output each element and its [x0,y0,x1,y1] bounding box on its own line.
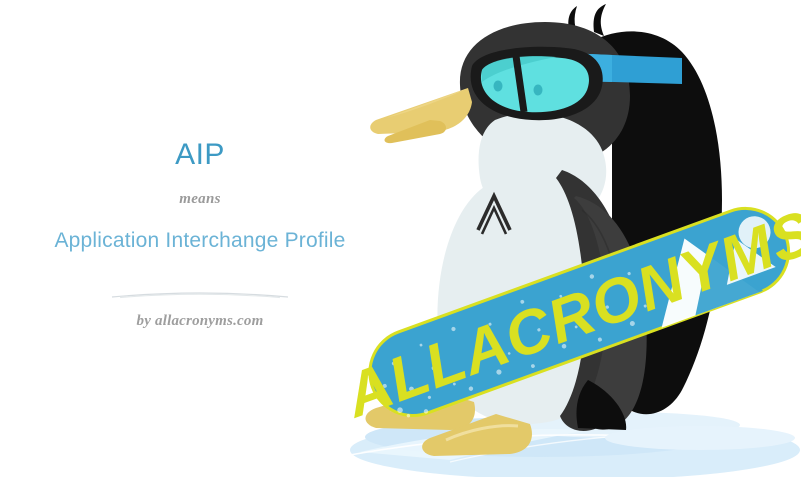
means-label: means [179,192,221,207]
penguin-beak-icon [370,88,472,143]
snowboarding-penguin-illustration: ALLACRONYMS [330,0,801,477]
definition-expansion: Application Interchange Profile [40,227,360,255]
acronym-title: AIP [175,140,225,170]
acronym-definition-card: AIP means Application Interchange Profil… [0,0,801,477]
divider-rule [110,288,290,300]
attribution-link[interactable]: by allacronyms.com [137,314,264,329]
